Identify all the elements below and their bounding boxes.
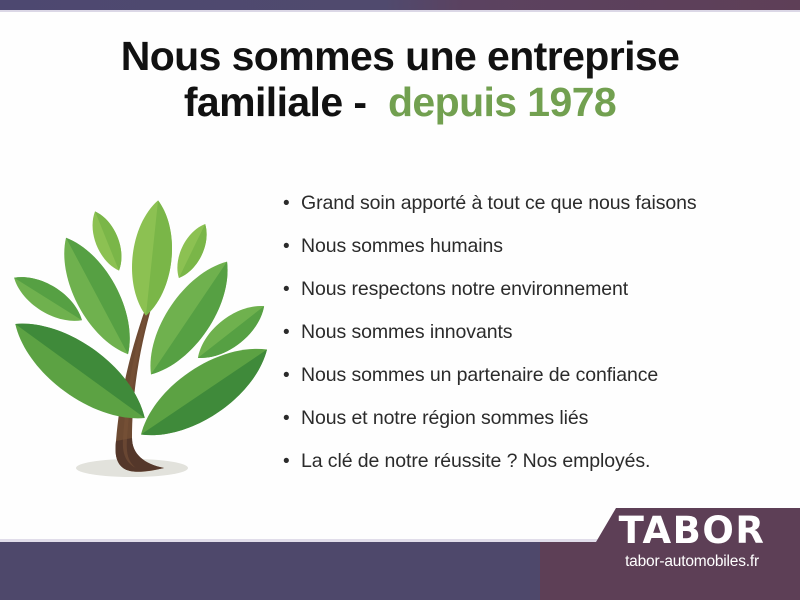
bullet-marker-icon: • <box>283 194 301 213</box>
title-line-2: familiale - depuis 1978 <box>40 80 760 126</box>
list-item: • La clé de notre réussite ? Nos employé… <box>283 450 763 493</box>
top-accent-strip <box>0 0 800 10</box>
leaf-top-center <box>127 198 178 317</box>
bullet-marker-icon: • <box>283 323 301 342</box>
logo-wordmark: TABOR <box>592 512 792 549</box>
leaf-lower-right <box>127 329 268 455</box>
page-title: Nous sommes une entreprise familiale - d… <box>40 34 760 126</box>
top-accent-hairline <box>0 10 800 12</box>
bullet-marker-icon: • <box>283 280 301 299</box>
list-item-label: Nous sommes humains <box>301 235 503 258</box>
bullet-marker-icon: • <box>283 366 301 385</box>
bullet-list: • Grand soin apporté à tout ce que nous … <box>283 192 763 493</box>
bullet-marker-icon: • <box>283 237 301 256</box>
list-item: • Nous respectons notre environnement <box>283 278 763 321</box>
title-accent-since-year: depuis 1978 <box>388 79 616 125</box>
logo-url: tabor-automobiles.fr <box>592 554 792 570</box>
list-item: • Nous sommes un partenaire de confiance <box>283 364 763 407</box>
list-item-label: Nous sommes un partenaire de confiance <box>301 364 658 387</box>
list-item-label: Nous sommes innovants <box>301 321 512 344</box>
leaf-lower-left <box>12 303 160 438</box>
tree-illustration <box>12 196 268 486</box>
list-item: • Nous sommes innovants <box>283 321 763 364</box>
brand-logo: TABOR tabor-automobiles.fr <box>592 512 792 570</box>
list-item: • Nous et notre région sommes liés <box>283 407 763 450</box>
list-item: • Grand soin apporté à tout ce que nous … <box>283 192 763 235</box>
title-line-2-plain: familiale - <box>184 79 388 125</box>
list-item: • Nous sommes humains <box>283 235 763 278</box>
list-item-label: Nous et notre région sommes liés <box>301 407 588 430</box>
slide-canvas: Nous sommes une entreprise familiale - d… <box>0 0 800 600</box>
list-item-label: Nous respectons notre environnement <box>301 278 628 301</box>
list-item-label: La clé de notre réussite ? Nos employés. <box>301 450 650 473</box>
bullet-marker-icon: • <box>283 409 301 428</box>
list-item-label: Grand soin apporté à tout ce que nous fa… <box>301 192 697 215</box>
title-line-1: Nous sommes une entreprise <box>40 34 760 80</box>
bullet-marker-icon: • <box>283 452 301 471</box>
